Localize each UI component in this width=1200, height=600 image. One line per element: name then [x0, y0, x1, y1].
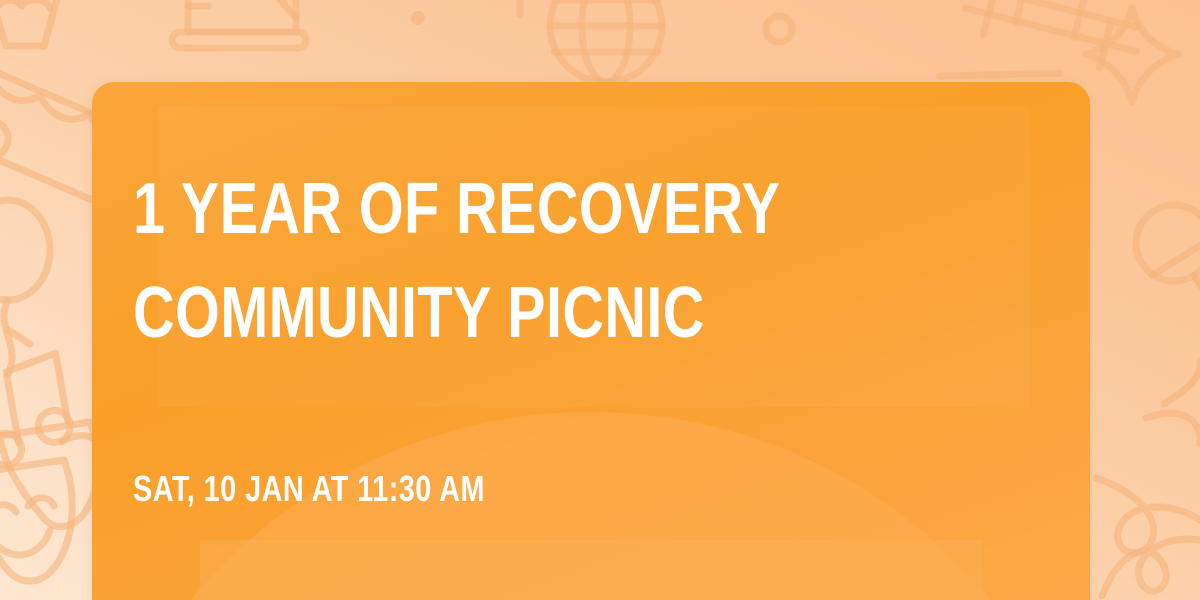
theater-masks-icon — [0, 422, 104, 581]
balloon-string-icon — [0, 200, 50, 374]
microphone-icon — [1122, 191, 1200, 343]
confetti-dot-icon — [8, 330, 30, 344]
music-note-icon — [0, 353, 75, 468]
event-datetime: Sat, 10 Jan at 11:30 AM — [133, 468, 485, 510]
event-banner: 1 Year of Recovery Community Picnic Sat,… — [0, 0, 1200, 600]
event-title: 1 Year of Recovery Community Picnic — [133, 158, 869, 365]
globe-icon — [550, 0, 662, 82]
event-card[interactable]: 1 Year of Recovery Community Picnic Sat,… — [92, 82, 1090, 600]
stage-lights-icon — [172, 0, 306, 48]
popcorn-icon — [0, 0, 58, 46]
card-content: 1 Year of Recovery Community Picnic Sat,… — [133, 82, 1090, 600]
bench-icon — [955, 0, 1145, 73]
ring-icon — [766, 16, 792, 42]
streamer-swirl-icon — [1096, 362, 1200, 596]
sparkle-icon — [1086, 8, 1178, 102]
confetti-dot-icon — [411, 11, 425, 25]
